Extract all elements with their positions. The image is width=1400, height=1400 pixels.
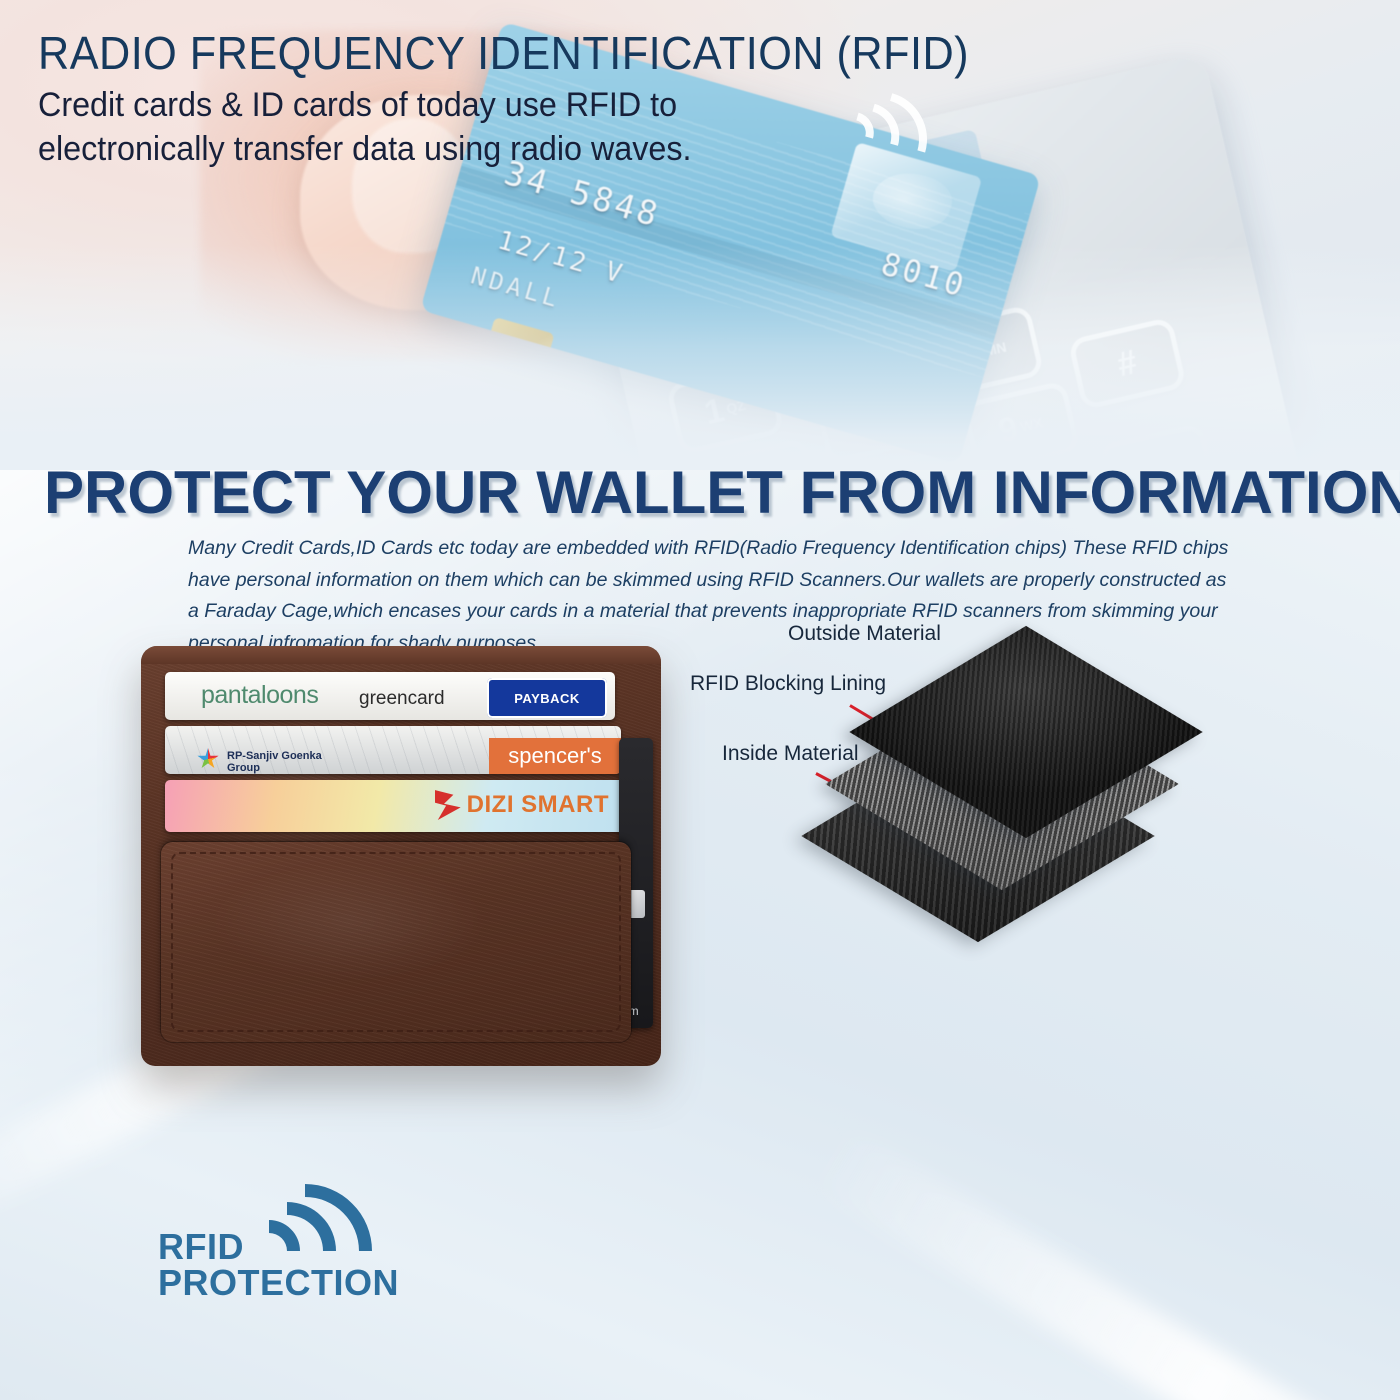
- pocket-stitching: [171, 852, 621, 1032]
- card-spencers: RP-Sanjiv Goenka Group spencer's: [165, 726, 621, 774]
- spencers-badge: spencer's: [489, 738, 621, 774]
- card-brand-label: pantaloons: [201, 681, 318, 710]
- dizi-mark-icon: [435, 790, 461, 820]
- cloth-fold: [806, 1123, 1400, 1400]
- card-brand-label: RP-Sanjiv Goenka Group: [227, 750, 322, 774]
- label-outside-material: Outside Material: [788, 622, 941, 646]
- dizi-logo: DIZI SMART: [435, 790, 609, 820]
- page-title: RADIO FREQUENCY IDENTIFICATION (RFID): [38, 26, 969, 80]
- rfid-protection-logo: RFID PROTECTION: [158, 1186, 498, 1306]
- rfid-logo-line-2: PROTECTION: [158, 1262, 399, 1304]
- card-dizi-smart: DIZI SMART: [165, 780, 625, 832]
- page-subtitle: Credit cards & ID cards of today use RFI…: [38, 84, 692, 171]
- label-rfid-blocking-lining: RFID Blocking Lining: [690, 672, 886, 696]
- subtitle-line-2: electronically transfer data using radio…: [38, 128, 692, 172]
- main-heading: PROTECT YOUR WALLET FROM INFORMATION THE…: [44, 458, 1374, 527]
- wallet-front-pocket: [161, 842, 631, 1042]
- material-layer-diagram: Outside Material RFID Blocking Lining In…: [690, 612, 1190, 892]
- card-pantaloons: pantaloons greencard PAYBACK: [165, 672, 615, 720]
- payback-badge: PAYBACK: [487, 678, 607, 718]
- subtitle-line-1: Credit cards & ID cards of today use RFI…: [38, 84, 692, 128]
- infographic-page: 1QZ 2AB 3DE 4GH 5JK 6MN 7PR 8TU 9WX # 34…: [0, 0, 1400, 1400]
- card-brand-label: DIZI SMART: [467, 791, 609, 819]
- wallet-top-edge: [141, 646, 661, 664]
- leather-card-wallet: pantaloons greencard PAYBACK RP-Sanjiv G…: [141, 646, 661, 1066]
- card-secondary-label: greencard: [359, 688, 445, 710]
- label-inside-material: Inside Material: [722, 742, 859, 766]
